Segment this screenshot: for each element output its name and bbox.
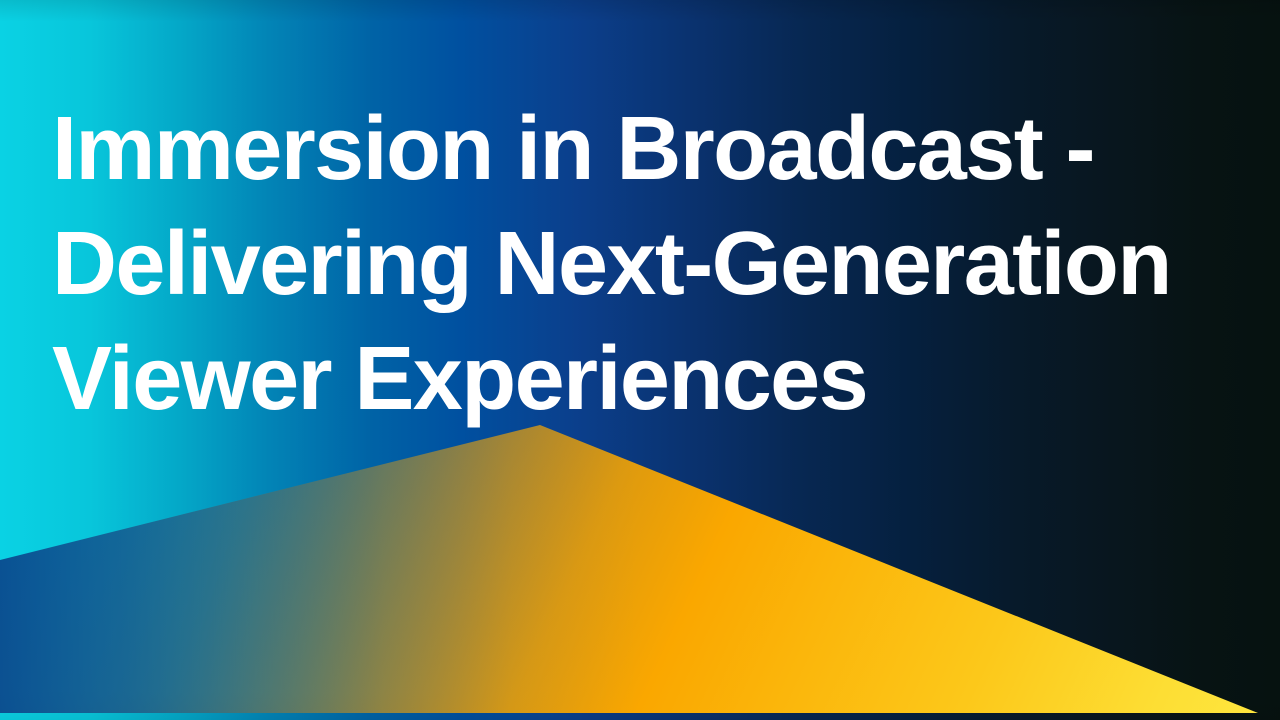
page-title: Immersion in Broadcast - Delivering Next…	[52, 92, 1262, 437]
title-line-1: Immersion in Broadcast -	[52, 92, 1262, 207]
title-line-2: Delivering Next-Generation	[52, 207, 1262, 322]
title-slide: Immersion in Broadcast - Delivering Next…	[0, 0, 1280, 720]
title-line-3: Viewer Experiences	[52, 322, 1262, 437]
